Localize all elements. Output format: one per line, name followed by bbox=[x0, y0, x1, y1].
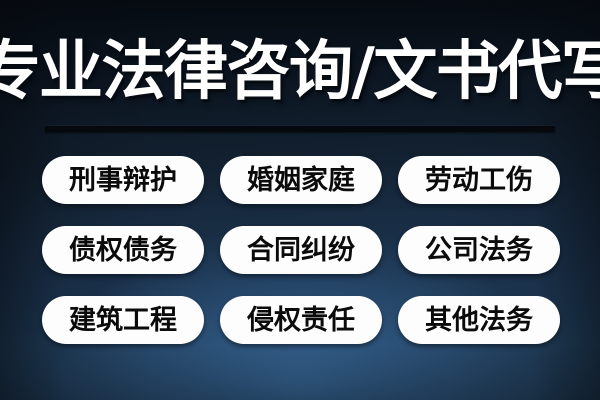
service-pill-label: 公司法务 bbox=[425, 237, 533, 264]
service-pill-other-legal[interactable]: 其他法务 bbox=[398, 296, 560, 344]
service-pill-label: 刑事辩护 bbox=[69, 167, 177, 194]
legal-services-banner: 专业法律咨询/文书代写 刑事辩护 婚姻家庭 劳动工伤 债权债务 bbox=[0, 0, 600, 400]
service-pill-label: 婚姻家庭 bbox=[247, 167, 355, 194]
headline-text: 专业法律咨询/文书代写 bbox=[0, 40, 600, 104]
service-pill-label: 劳动工伤 bbox=[425, 167, 533, 194]
service-pill-tort-liability[interactable]: 侵权责任 bbox=[220, 296, 382, 344]
service-pill-label: 建筑工程 bbox=[69, 307, 177, 334]
service-pill-construction-engineering[interactable]: 建筑工程 bbox=[42, 296, 204, 344]
service-pill-label: 其他法务 bbox=[425, 307, 533, 334]
service-pill-marriage-family[interactable]: 婚姻家庭 bbox=[220, 156, 382, 204]
service-pill-criminal-defense[interactable]: 刑事辩护 bbox=[42, 156, 204, 204]
service-pill-label: 合同纠纷 bbox=[247, 237, 355, 264]
service-pill-label: 债权债务 bbox=[69, 237, 177, 264]
headline: 专业法律咨询/文书代写 bbox=[0, 30, 600, 114]
service-category-grid: 刑事辩护 婚姻家庭 劳动工伤 债权债务 合同纠纷 公司法务 bbox=[42, 156, 560, 344]
service-pill-contract-dispute[interactable]: 合同纠纷 bbox=[220, 226, 382, 274]
service-category-row: 刑事辩护 婚姻家庭 劳动工伤 bbox=[42, 156, 560, 204]
banner-content: 专业法律咨询/文书代写 刑事辩护 婚姻家庭 劳动工伤 债权债务 bbox=[0, 0, 600, 400]
service-pill-label: 侵权责任 bbox=[247, 307, 355, 334]
service-pill-corporate-legal[interactable]: 公司法务 bbox=[398, 226, 560, 274]
service-pill-creditor-debt[interactable]: 债权债务 bbox=[42, 226, 204, 274]
service-pill-labor-injury[interactable]: 劳动工伤 bbox=[398, 156, 560, 204]
service-category-row: 建筑工程 侵权责任 其他法务 bbox=[42, 296, 560, 344]
service-category-row: 债权债务 合同纠纷 公司法务 bbox=[42, 226, 560, 274]
headline-divider-bar bbox=[45, 126, 555, 132]
